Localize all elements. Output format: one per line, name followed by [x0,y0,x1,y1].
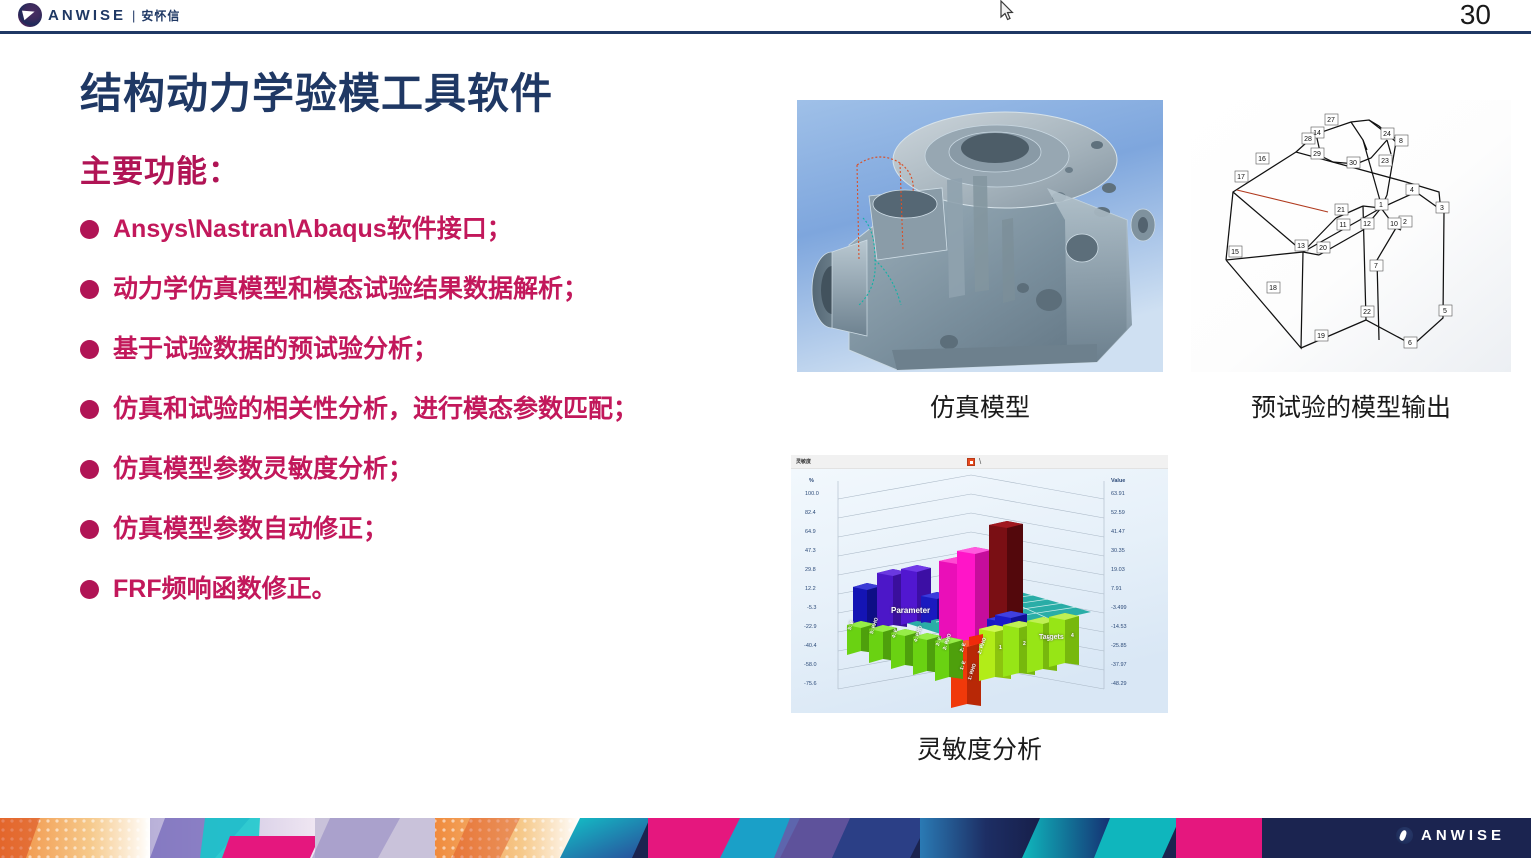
svg-text:24: 24 [1383,131,1391,138]
chart-parameter-axis-label: Parameter [891,606,930,615]
list-item-label: FRF频响函数修正。 [113,572,337,606]
bullet-dot-icon [80,280,99,299]
list-item-label: 仿真模型参数灵敏度分析； [113,452,413,486]
svg-text:15: 15 [1231,249,1239,256]
slide-footer: ANWISE [0,818,1531,858]
svg-text:27: 27 [1327,117,1335,124]
chart-target-label: 4 [1071,633,1074,639]
chart-target-label: 2 [1023,641,1026,647]
sensitivity-analysis-caption: 灵敏度分析 [791,730,1168,766]
list-item-label: 动力学仿真模型和模态试验结果数据解析； [113,272,588,306]
svg-text:4: 4 [1410,187,1414,194]
svg-text:17: 17 [1237,174,1245,181]
svg-text:18: 18 [1269,285,1277,292]
footer-brand-text: ANWISE [1421,827,1505,844]
chart-left-tick: 29.8 [805,567,816,573]
sensitivity-analysis-chart: 灵敏度 \ [791,455,1168,713]
svg-text:14: 14 [1313,130,1321,137]
svg-text:2: 2 [1403,219,1407,226]
chart-right-tick: -3.499 [1111,605,1127,611]
list-item: Ansys\Nastran\Abaqus软件接口； [80,212,800,272]
chart-target-label: 3 [1047,637,1050,643]
svg-text:29: 29 [1313,151,1321,158]
list-item: 仿真和试验的相关性分析，进行模态参数匹配； [80,392,800,452]
chart-left-tick: -58.0 [804,662,817,668]
chart-left-tick: 47.3 [805,548,816,554]
chart-right-tick: 63.91 [1111,491,1125,497]
chart-left-tick: -22.9 [804,624,817,630]
chart-targets-axis-label: Targets [1039,634,1064,641]
svg-text:10: 10 [1390,221,1398,228]
chart-left-tick: 100.0 [805,491,819,497]
chart-left-tick: 12.2 [805,586,816,592]
anwise-footer-logo-icon [1396,827,1413,844]
svg-text:16: 16 [1258,156,1266,163]
chart-left-tick: 64.9 [805,529,816,535]
svg-text:28: 28 [1304,136,1312,143]
chart-target-label: 1 [999,645,1002,651]
brand-logo-separator: | [132,8,135,23]
anwise-logo-icon [18,3,42,27]
chart-titlebar: 灵敏度 \ [791,455,1168,469]
svg-text:5: 5 [1443,308,1447,315]
chart-right-tick: -48.29 [1111,681,1127,687]
chart-left-tick: -5.3 [807,605,816,611]
svg-text:11: 11 [1339,222,1346,229]
page-number: 30 [1460,0,1491,31]
svg-text:3: 3 [1440,205,1444,212]
bullet-dot-icon [80,400,99,419]
pretest-model-output-caption: 预试验的模型输出 [1191,388,1511,424]
bullet-dot-icon [80,220,99,239]
list-item: 基于试验数据的预试验分析； [80,332,800,392]
chart-right-tick: -14.53 [1111,624,1127,630]
list-item: FRF频响函数修正。 [80,572,800,632]
pretest-model-output-image: 123 456 7810 111213 141516 171819 202122… [1191,100,1511,372]
bullet-dot-icon [80,580,99,599]
svg-text:8: 8 [1399,138,1403,145]
chart-plot-area: % 100.0 82.4 64.9 47.3 29.8 12.2 -5.3 -2… [791,469,1168,713]
chart-right-tick: 41.47 [1111,529,1125,535]
chart-right-tick: 52.59 [1111,510,1125,516]
svg-text:12: 12 [1363,221,1371,228]
bullet-dot-icon [80,520,99,539]
svg-text:22: 22 [1363,309,1371,316]
section-subtitle: 主要功能： [80,146,240,191]
chart-left-axis-title: % [809,478,814,484]
chart-tool-icon[interactable] [967,458,975,466]
svg-text:1: 1 [1379,202,1383,209]
chart-right-tick: 19.03 [1111,567,1125,573]
footer-brand-logo: ANWISE [1396,827,1505,844]
chart-right-tick: -25.85 [1111,643,1127,649]
brand-logo-chinese: 安怀信 [141,7,180,24]
list-item-label: 仿真和试验的相关性分析，进行模态参数匹配； [113,392,638,426]
footer-graphic [0,818,1531,858]
chart-right-tick: -37.97 [1111,662,1127,668]
list-item: 动力学仿真模型和模态试验结果数据解析； [80,272,800,332]
chart-left-tick: -40.4 [804,643,817,649]
feature-list: Ansys\Nastran\Abaqus软件接口； 动力学仿真模型和模态试验结果… [80,212,800,632]
chart-left-tick: 82.4 [805,510,816,516]
header-divider [0,31,1531,34]
svg-text:21: 21 [1337,207,1345,214]
list-item: 仿真模型参数自动修正； [80,512,800,572]
svg-text:6: 6 [1408,340,1412,347]
simulation-model-caption: 仿真模型 [797,388,1163,424]
brand-logo-text: ANWISE [48,7,126,24]
list-item-label: 仿真模型参数自动修正； [113,512,388,546]
chart-right-axis-title: Value [1111,478,1125,484]
bullet-dot-icon [80,460,99,479]
svg-text:23: 23 [1381,158,1389,165]
bullet-dot-icon [80,340,99,359]
simulation-model-image [797,100,1163,372]
list-item-label: 基于试验数据的预试验分析； [113,332,438,366]
page-title: 结构动力学验模工具软件 [80,60,553,121]
svg-text:19: 19 [1317,333,1325,340]
svg-text:20: 20 [1319,245,1327,252]
list-item: 仿真模型参数灵敏度分析； [80,452,800,512]
chart-right-tick: 30.35 [1111,548,1125,554]
slide-header: ANWISE | 安怀信 30 [0,0,1531,31]
chart-window-title: 灵敏度 [796,458,811,465]
list-item-label: Ansys\Nastran\Abaqus软件接口； [113,212,512,246]
svg-text:7: 7 [1374,263,1378,270]
chart-line-tool-icon[interactable]: \ [979,457,981,466]
svg-text:13: 13 [1297,243,1305,250]
brand-logo: ANWISE | 安怀信 [18,3,180,27]
chart-left-tick: -75.6 [804,681,817,687]
svg-text:30: 30 [1349,160,1357,167]
chart-right-tick: 7.91 [1111,586,1122,592]
